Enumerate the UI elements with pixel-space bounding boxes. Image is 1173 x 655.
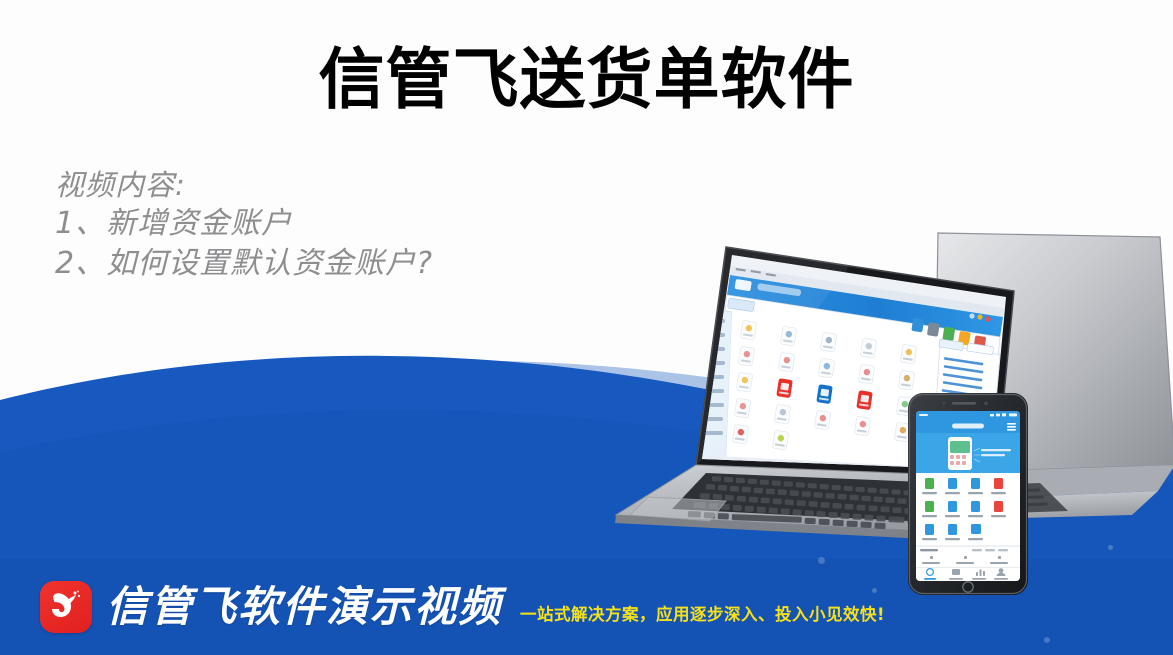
page-title: 信管飞送货单软件 [0, 44, 1173, 115]
video-content-block: 视频内容: 1、新增资金账户 2、如何设置默认资金账户? [55, 166, 433, 284]
video-content-item-1: 1、新增资金账户 [55, 204, 433, 244]
device-mockup-group [520, 215, 1173, 595]
video-content-heading: 视频内容: [55, 166, 433, 204]
video-content-item-2: 2、如何设置默认资金账户? [55, 244, 433, 284]
decorative-bubble [1108, 545, 1113, 550]
slide-canvas: 信管飞送货单软件 视频内容: 1、新增资金账户 2、如何设置默认资金账户? [0, 0, 1173, 655]
banner-brand-title: 信管飞软件演示视频 [106, 586, 502, 628]
banner-tagline: 一站式解决方案，应用逐步深入、投入小见效快! [520, 601, 885, 625]
bottom-banner: 信管飞软件演示视频 一站式解决方案，应用逐步深入、投入小见效快! [0, 559, 1173, 655]
feiniao-brand-icon [40, 581, 92, 633]
